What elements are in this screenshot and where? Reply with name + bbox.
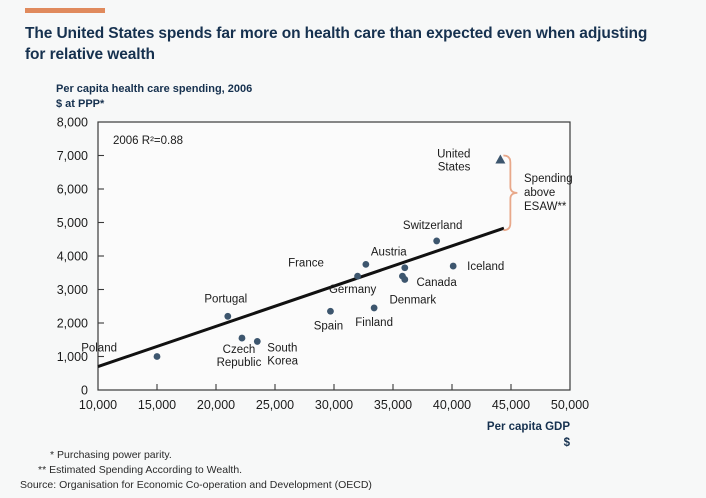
chart-subtitle: Per capita health care spending, 2006 $ … [56,82,252,112]
y-axis-ticks [98,156,104,357]
data-point-label: Canada [416,277,457,289]
plot-frame [98,122,570,390]
x-tick-label: 40,000 [433,398,471,412]
scatter-chart: 01,0002,0003,0004,0005,0006,0007,0008,00… [0,0,706,498]
x-tick-label: 15,000 [138,398,176,412]
y-tick-label: 2,000 [57,317,88,331]
data-point-marker [401,264,408,271]
footnotes: * Purchasing power parity. ** Estimated … [20,448,372,494]
data-point-marker [399,273,406,280]
page-title: The United States spends far more on hea… [25,24,665,66]
data-point-marker [154,353,161,360]
bracket-label-line3: ESAW** [524,201,567,213]
chart-subtitle-line1: Per capita health care spending, 2006 [56,82,252,97]
data-point-label: United [437,149,470,161]
x-tick-label: 30,000 [315,398,353,412]
chart-subtitle-line2: $ at PPP* [56,97,252,112]
data-point-marker [239,335,246,342]
data-point-marker [254,338,261,345]
data-point-label: Switzerland [403,220,462,232]
y-tick-label: 4,000 [57,250,88,264]
x-axis-ticks [157,384,511,390]
data-point-marker [327,308,334,315]
data-point-label: Spain [314,320,343,332]
y-tick-label: 8,000 [57,116,88,130]
data-point-marker [495,155,505,164]
bracket-path [503,156,517,231]
data-point-label: France [288,257,324,269]
data-point-label: Germany [329,284,377,296]
data-point-marker [450,263,457,270]
data-points [154,155,506,360]
x-axis-title-line2: $ [564,437,571,449]
data-point-label: Iceland [467,261,504,273]
y-tick-label: 3,000 [57,283,88,297]
data-point-label: States [438,162,471,174]
spending-above-esaw-bracket [503,156,517,231]
data-point-labels: PolandPortugalCzechRepublicSouthKoreaSpa… [81,149,504,370]
data-point-label: Republic [217,357,262,369]
x-tick-label: 50,000 [551,398,589,412]
accent-bar [25,8,105,13]
data-point-label: Austria [371,247,407,259]
footnote-ppp: * Purchasing power parity. [20,448,372,463]
x-tick-label: 10,000 [79,398,117,412]
y-tick-label: 1,000 [57,350,88,364]
y-tick-label: 7,000 [57,149,88,163]
y-tick-label: 6,000 [57,183,88,197]
trend-line [98,228,504,366]
footnote-source: Source: Organisation for Economic Co-ope… [20,478,372,493]
y-tick-label: 5,000 [57,216,88,230]
data-point-marker [401,276,408,283]
data-point-label: Denmark [389,294,436,306]
data-point-label: Czech [223,344,256,356]
data-point-label: Korea [267,355,298,367]
regression-line [98,228,504,366]
r-squared-annotation: 2006 R²=0.88 [113,135,183,147]
data-point-marker [371,305,378,312]
footnote-esaw: ** Estimated Spending According to Wealt… [20,463,372,478]
x-axis-title-line1: Per capita GDP [487,421,570,433]
y-tick-label: 0 [81,384,88,398]
x-axis-labels: 10,00015,00020,00025,00030,00035,00040,0… [79,398,589,412]
data-point-marker [354,273,361,280]
data-point-marker [362,261,369,268]
x-tick-label: 35,000 [374,398,412,412]
bracket-label-line2: above [524,187,555,199]
data-point-label: Poland [81,343,117,355]
data-point-label: Finland [355,317,393,329]
data-point-label: Portugal [204,293,247,305]
data-point-label: South [267,342,297,354]
bracket-label-line1: Spending [524,173,573,185]
data-point-marker [224,313,231,320]
x-tick-label: 25,000 [256,398,294,412]
x-tick-label: 45,000 [492,398,530,412]
data-point-marker [433,238,440,245]
x-tick-label: 20,000 [197,398,235,412]
y-axis-labels: 01,0002,0003,0004,0005,0006,0007,0008,00… [57,116,88,398]
